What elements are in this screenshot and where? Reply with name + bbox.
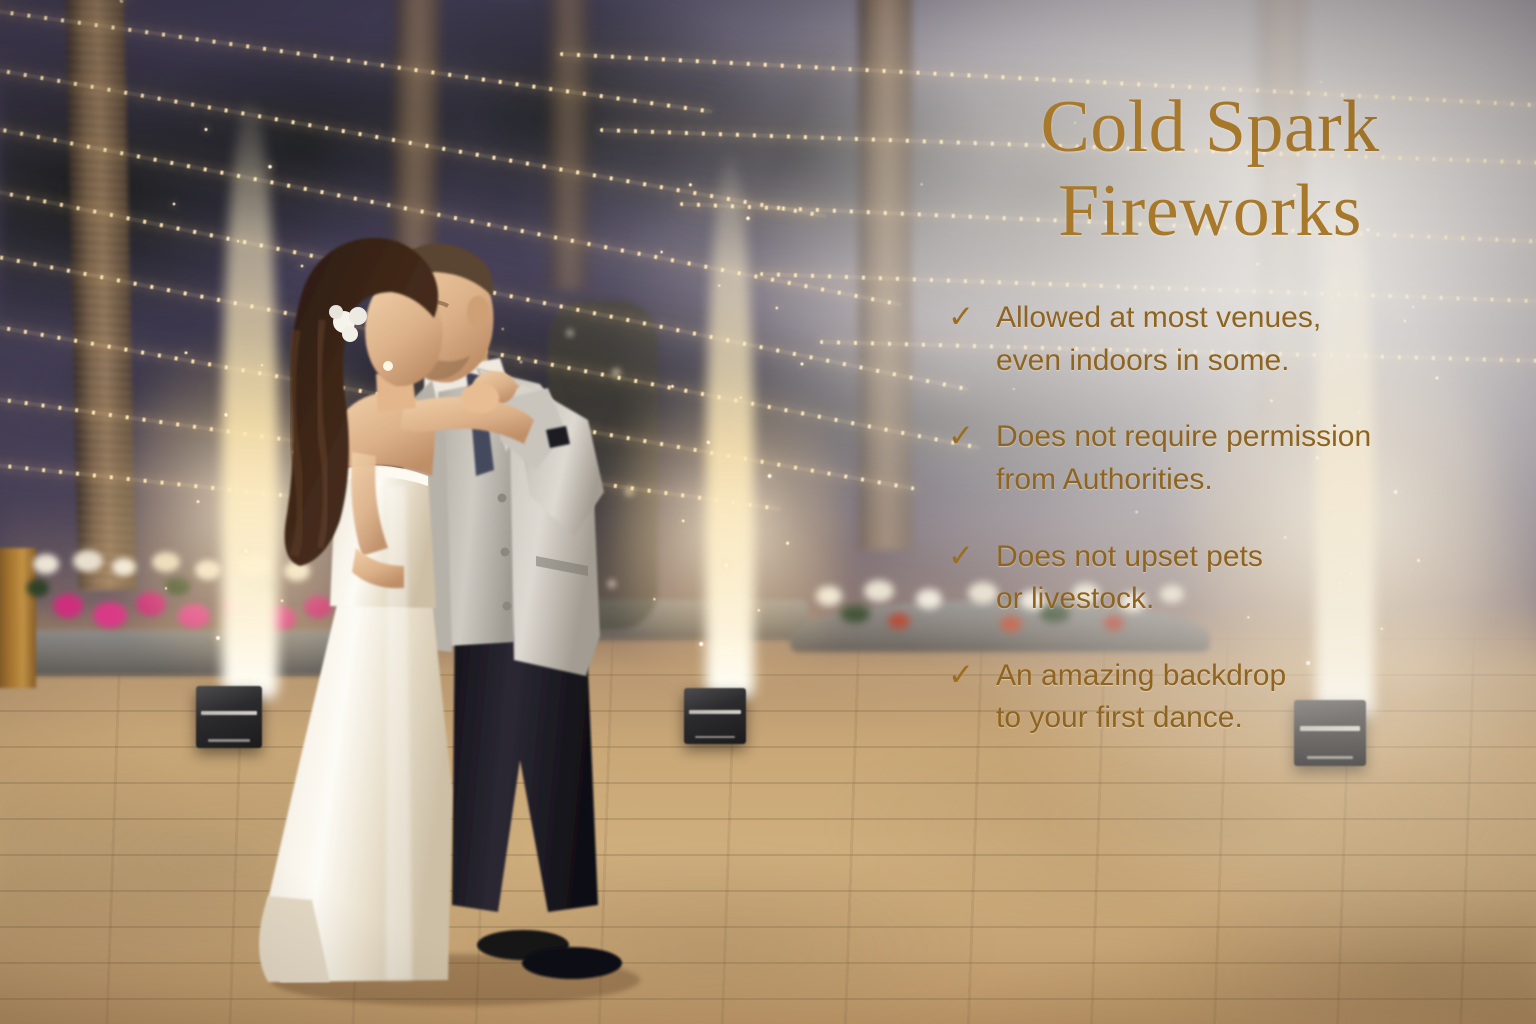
benefit-text: An amazing backdrop to your first dance. xyxy=(996,655,1286,740)
check-icon: ✓ xyxy=(948,655,978,695)
cold-spark-fireworks-poster: Cold Spark Fireworks ✓ Allowed at most v… xyxy=(0,0,1536,1024)
check-icon: ✓ xyxy=(948,297,978,337)
check-icon: ✓ xyxy=(948,536,978,576)
benefit-list: ✓ Allowed at most venues, even indoors i… xyxy=(940,297,1480,740)
list-item: ✓ An amazing backdrop to your first danc… xyxy=(948,655,1480,740)
list-item: ✓ Does not upset pets or livestock. xyxy=(948,536,1480,621)
check-icon: ✓ xyxy=(948,416,978,456)
text-panel: Cold Spark Fireworks ✓ Allowed at most v… xyxy=(940,86,1480,774)
list-item: ✓ Does not require permission from Autho… xyxy=(948,416,1480,501)
benefit-text: Allowed at most venues, even indoors in … xyxy=(996,297,1321,382)
list-item: ✓ Allowed at most venues, even indoors i… xyxy=(948,297,1480,382)
benefit-text: Does not require permission from Authori… xyxy=(996,416,1371,501)
benefit-text: Does not upset pets or livestock. xyxy=(996,536,1263,621)
page-title: Cold Spark Fireworks xyxy=(940,86,1480,253)
